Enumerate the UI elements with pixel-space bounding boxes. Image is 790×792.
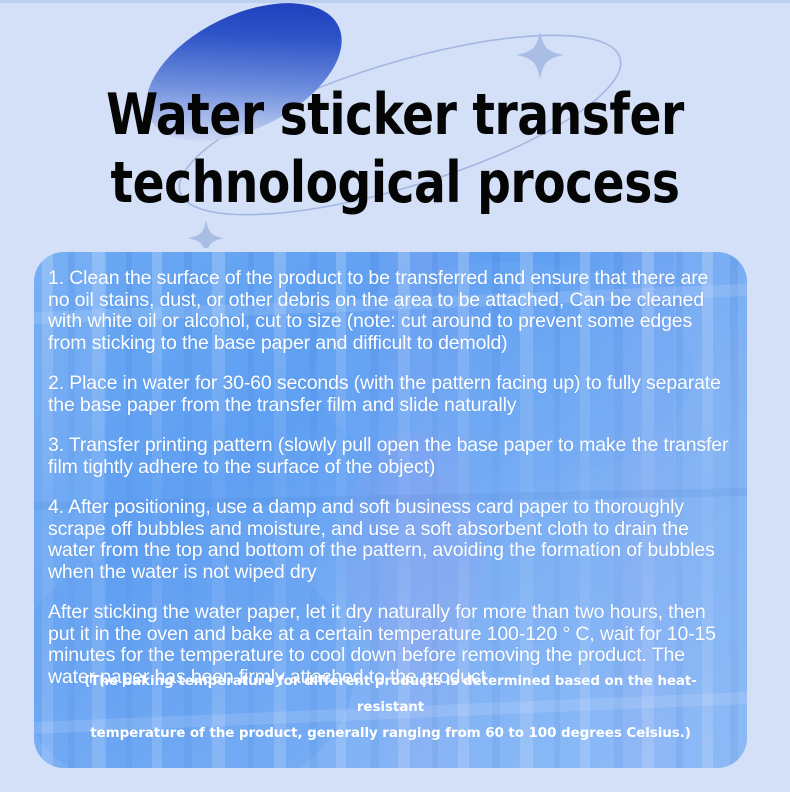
- sparkle-bottom-icon: [188, 220, 224, 248]
- instruction-paragraph-3: 3. Transfer printing pattern (slowly pul…: [48, 435, 733, 478]
- instruction-paragraph-1: 1. Clean the surface of the product to b…: [48, 268, 733, 354]
- page-title-line-1: Water sticker transfer: [32, 81, 759, 149]
- page-title: Water sticker transfer technological pro…: [0, 81, 790, 217]
- sparkle-top-icon: [516, 31, 564, 79]
- card-footer-line-1: (The baking temperature for different pr…: [70, 668, 711, 720]
- header-hero: Water sticker transfer technological pro…: [0, 3, 790, 248]
- poster-root: Water sticker transfer technological pro…: [0, 0, 790, 792]
- card-footer-line-2: temperature of the product, generally ra…: [70, 720, 711, 746]
- page-title-line-2: technological process: [32, 149, 759, 217]
- instructions-card: 1. Clean the surface of the product to b…: [34, 252, 747, 768]
- instruction-paragraph-4: 4. After positioning, use a damp and sof…: [48, 497, 733, 583]
- card-footer-note: (The baking temperature for different pr…: [34, 668, 747, 746]
- instruction-paragraph-2: 2. Place in water for 30-60 seconds (wit…: [48, 373, 733, 416]
